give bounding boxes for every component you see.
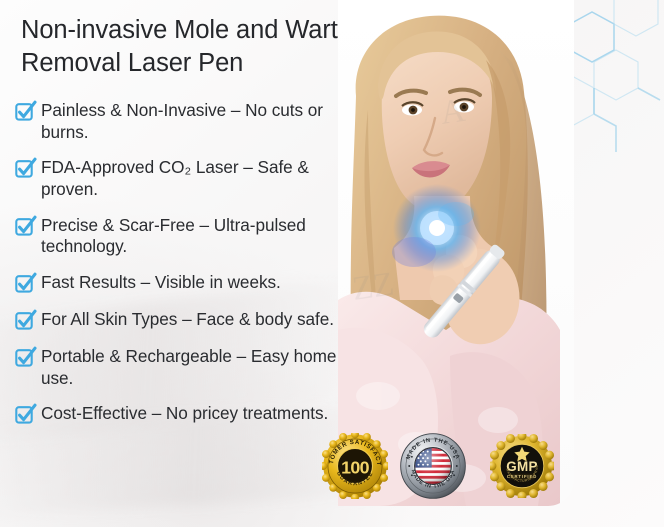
trust-badge-group: CUSTOMER SATISFACTION GUARANTEE 100 bbox=[322, 427, 592, 505]
checkbox-check-icon bbox=[14, 308, 38, 332]
page-title: Non-invasive Mole and Wart Removal Laser… bbox=[21, 14, 421, 80]
list-item: Cost-Effective – No pricey treatments. bbox=[14, 402, 344, 426]
list-item-label: Portable & Rechargeable – Easy home use. bbox=[41, 345, 344, 389]
feature-list: Painless & Non-Invasive – No cuts or bur… bbox=[14, 99, 344, 426]
page-title-line-2: Removal Laser Pen bbox=[21, 47, 421, 80]
list-item: FDA-Approved CO₂ Laser – Safe & proven. bbox=[14, 156, 344, 200]
list-item: Fast Results – Visible in weeks. bbox=[14, 271, 344, 295]
checkbox-check-icon bbox=[14, 214, 38, 238]
list-item: Portable & Rechargeable – Easy home use. bbox=[14, 345, 344, 389]
list-item: Painless & Non-Invasive – No cuts or bur… bbox=[14, 99, 344, 143]
list-item: For All Skin Types – Face & body safe. bbox=[14, 308, 344, 332]
list-item-label: Cost-Effective – No pricey treatments. bbox=[41, 402, 328, 425]
list-item-label: Painless & Non-Invasive – No cuts or bur… bbox=[41, 99, 344, 143]
checkbox-check-icon bbox=[14, 345, 38, 369]
svg-text:ZZ: ZZ bbox=[350, 266, 396, 308]
checkbox-check-icon bbox=[14, 99, 38, 123]
checkbox-check-icon bbox=[14, 156, 38, 180]
list-item: Precise & Scar-Free – Ultra-pulsed techn… bbox=[14, 214, 344, 258]
gmp-certified-badge: GMP CERTIFIED GOOD MANUFACTURING PRACTIC… bbox=[490, 434, 554, 498]
list-item-label: Precise & Scar-Free – Ultra-pulsed techn… bbox=[41, 214, 344, 258]
page-title-line-1: Non-invasive Mole and Wart bbox=[21, 14, 421, 47]
customer-satisfaction-guarantee-badge: CUSTOMER SATISFACTION GUARANTEE 100 bbox=[322, 433, 388, 499]
list-item-label: FDA-Approved CO₂ Laser – Safe & proven. bbox=[41, 156, 344, 200]
list-item-label: For All Skin Types – Face & body safe. bbox=[41, 308, 334, 331]
made-in-the-usa-badge: MADE IN THE USA MADE IN THE USA bbox=[400, 433, 466, 499]
product-feature-graphic: ZZ A Non-invasive Mole and Wart Removal … bbox=[0, 0, 664, 527]
checkbox-check-icon bbox=[14, 271, 38, 295]
list-item-label: Fast Results – Visible in weeks. bbox=[41, 271, 281, 294]
svg-text:GMP: GMP bbox=[506, 459, 538, 474]
checkbox-check-icon bbox=[14, 402, 38, 426]
svg-text:100: 100 bbox=[341, 457, 369, 477]
